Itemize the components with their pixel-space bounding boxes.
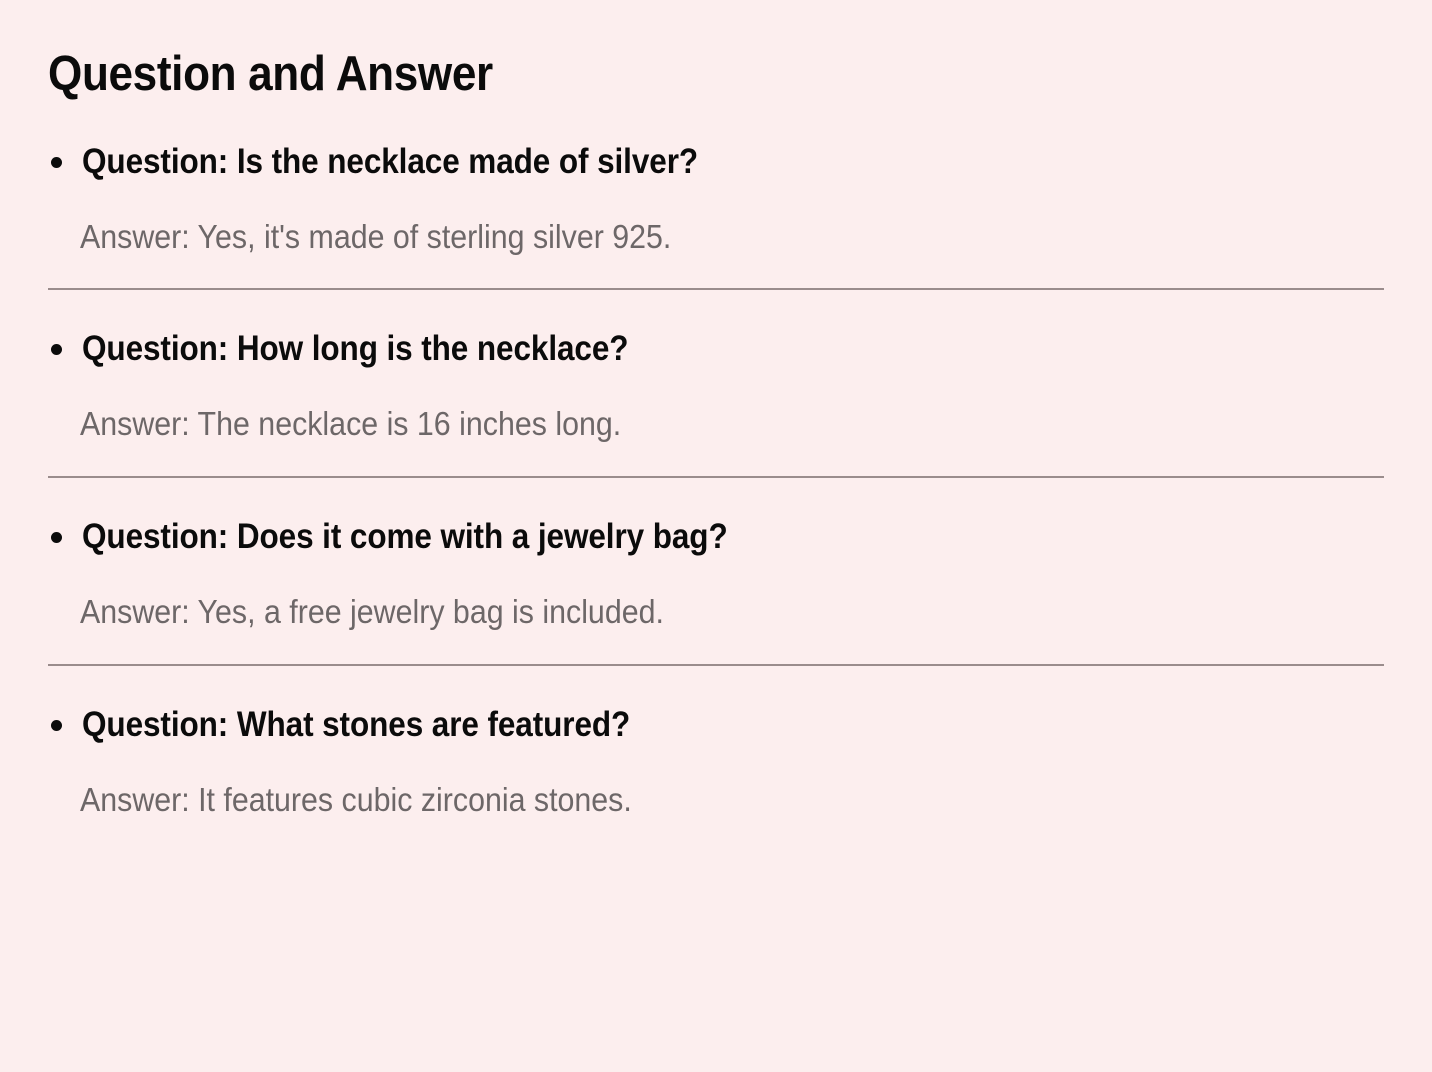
answer-text: Answer: Yes, a free jewelry bag is inclu…: [80, 592, 1280, 632]
qa-item: Question: How long is the necklace? Answ…: [48, 328, 1384, 478]
question-row: Question: What stones are featured?: [48, 704, 1384, 746]
question-text: Question: How long is the necklace?: [82, 328, 628, 370]
question-text: Question: Does it come with a jewelry ba…: [82, 516, 728, 558]
bullet-dot-icon: [51, 532, 62, 543]
bullet-dot-icon: [51, 344, 62, 355]
qa-divider: [48, 288, 1384, 290]
qa-item: Question: Is the necklace made of silver…: [48, 141, 1384, 291]
qa-divider: [48, 664, 1384, 666]
qa-item: Question: Does it come with a jewelry ba…: [48, 516, 1384, 666]
question-text: Question: Is the necklace made of silver…: [82, 141, 698, 183]
qa-list: Question: Is the necklace made of silver…: [48, 141, 1384, 819]
qa-divider: [48, 476, 1384, 478]
page-title: Question and Answer: [48, 0, 1250, 103]
answer-text: Answer: It features cubic zirconia stone…: [80, 780, 1280, 820]
bullet-dot-icon: [51, 720, 62, 731]
question-and-answer-section: Question and Answer Question: Is the nec…: [0, 0, 1432, 1072]
question-text: Question: What stones are featured?: [82, 704, 630, 746]
question-row: Question: Is the necklace made of silver…: [48, 141, 1384, 183]
bullet-dot-icon: [51, 157, 62, 168]
qa-item: Question: What stones are featured? Answ…: [48, 704, 1384, 820]
answer-text: Answer: Yes, it's made of sterling silve…: [80, 217, 1280, 257]
answer-text: Answer: The necklace is 16 inches long.: [80, 404, 1280, 444]
question-row: Question: Does it come with a jewelry ba…: [48, 516, 1384, 558]
question-row: Question: How long is the necklace?: [48, 328, 1384, 370]
